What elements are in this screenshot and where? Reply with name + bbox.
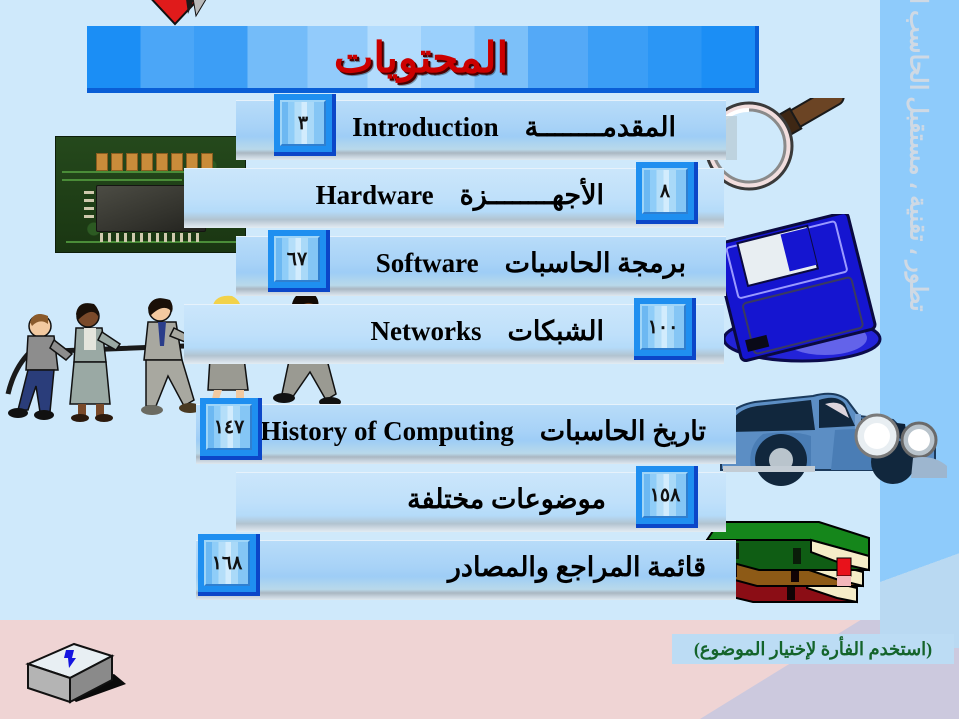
contents-row-arabic: تاريخ الحاسبات bbox=[540, 416, 706, 446]
contents-row-english: Introduction bbox=[352, 112, 499, 142]
page-number-value: ١٦٨ bbox=[204, 540, 250, 586]
contents-row-arabic: برمجة الحاسبات bbox=[505, 248, 686, 278]
contents-row-label: المقدمــــــــة Introduction bbox=[566, 101, 676, 153]
label-spacer bbox=[434, 181, 460, 210]
contents-row-english: Software bbox=[376, 248, 479, 278]
page-number-badge[interactable]: ١٦٨ bbox=[198, 534, 260, 596]
contents-row[interactable]: تاريخ الحاسبات History of Computing bbox=[196, 404, 736, 464]
page-number-value: ١٤٧ bbox=[206, 404, 252, 450]
page-number-value: ٣ bbox=[280, 100, 326, 146]
contents-row[interactable]: قائمة المراجع والمصادر bbox=[196, 540, 736, 600]
contents-row-label: قائمة المراجع والمصادر bbox=[456, 541, 706, 593]
contents-row-arabic: موضوعات مختلفة bbox=[407, 484, 606, 514]
contents-row-label: الأجهــــــــزة Hardware bbox=[228, 169, 604, 221]
classic-car-icon bbox=[707, 374, 952, 494]
contents-row-arabic: الشبكات bbox=[507, 316, 604, 346]
label-spacer bbox=[499, 113, 525, 142]
contents-row-english: History of Computing bbox=[260, 416, 514, 446]
page-number-badge[interactable]: ١٤٧ bbox=[200, 398, 262, 460]
contents-row-english: Networks bbox=[370, 316, 481, 346]
label-spacer bbox=[479, 249, 505, 278]
contents-row-arabic: الأجهــــــــزة bbox=[460, 180, 604, 210]
page-number-badge[interactable]: ٦٧ bbox=[268, 230, 330, 292]
contents-row-label: موضوعات مختلفة bbox=[280, 473, 606, 525]
contents-row-english: Hardware bbox=[316, 180, 434, 210]
title-banner: المحتويات bbox=[87, 26, 759, 93]
contents-row-label: برمجة الحاسبات Software bbox=[566, 237, 686, 289]
floppy-disk-icon bbox=[697, 214, 897, 364]
page-number-value: ٨ bbox=[642, 168, 688, 214]
sidebar-vertical-title: تطور ، تقنية ، مستقبل الحاسب الآلي bbox=[904, 62, 933, 312]
red-arrow-icon bbox=[128, 0, 222, 26]
contents-slide: تطور ، تقنية ، مستقبل الحاسب الآلي المحت… bbox=[0, 0, 959, 719]
page-title: المحتويات bbox=[87, 28, 755, 90]
page-number-badge[interactable]: ١٠٠ bbox=[634, 298, 696, 360]
page-number-badge[interactable]: ١٥٨ bbox=[636, 466, 698, 528]
page-number-value: ٦٧ bbox=[274, 236, 320, 282]
label-spacer bbox=[514, 417, 540, 446]
page-number-badge[interactable]: ٨ bbox=[636, 162, 698, 224]
page-number-value: ١٠٠ bbox=[640, 304, 686, 350]
keyboard-key-icon bbox=[22, 636, 134, 708]
label-spacer bbox=[481, 317, 507, 346]
mouse-hint-text: (استخدم الفأرة لإختيار الموضوع) bbox=[672, 634, 954, 664]
page-number-badge[interactable]: ٣ bbox=[274, 94, 336, 156]
contents-row-label: تاريخ الحاسبات History of Computing bbox=[456, 405, 706, 457]
contents-row-arabic: المقدمــــــــة bbox=[525, 112, 676, 142]
contents-row-label: الشبكات Networks bbox=[228, 305, 604, 357]
contents-row-arabic: قائمة المراجع والمصادر bbox=[448, 552, 706, 582]
page-number-value: ١٥٨ bbox=[642, 472, 688, 518]
